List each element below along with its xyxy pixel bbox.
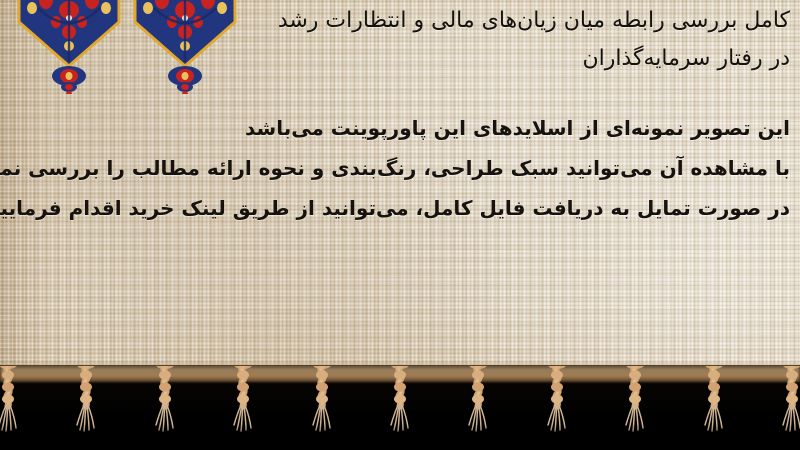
slide-title: کامل بررسی رابطه میان زیان‌های مالی و ان… — [130, 2, 790, 78]
fringe-tassel — [73, 366, 99, 432]
slide-title-line-1: کامل بررسی رابطه میان زیان‌های مالی و ان… — [130, 2, 790, 40]
slide-title-line-2: در رفتار سرمایه‌گذاران — [130, 40, 790, 78]
slide: کامل بررسی رابطه میان زیان‌های مالی و ان… — [0, 0, 800, 450]
fringe-tassel — [230, 366, 256, 432]
slide-body-line-3: در صورت تمایل به دریافت فایل کامل، می‌تو… — [20, 188, 790, 228]
slide-body-line-1: این تصویر نمونه‌ای از اسلایدهای این پاور… — [20, 108, 790, 148]
slide-body: این تصویر نمونه‌ای از اسلایدهای این پاور… — [20, 108, 790, 228]
persian-carpet-medallion-pendant-icon — [16, 0, 122, 94]
fringe-tassel — [309, 366, 335, 432]
fringe-tassel — [544, 366, 570, 432]
fringe-tassel — [0, 366, 21, 432]
band-bottom-shadow — [0, 424, 800, 450]
fringe-tassel — [779, 366, 800, 432]
fringe-tassel — [152, 366, 178, 432]
fringe-tassel — [387, 366, 413, 432]
fringe-tassel — [465, 366, 491, 432]
fringe-tassel — [701, 366, 727, 432]
fringe-tassel — [622, 366, 648, 432]
slide-body-line-2: با مشاهده آن می‌توانید سبک طراحی، رنگ‌بن… — [20, 148, 790, 188]
